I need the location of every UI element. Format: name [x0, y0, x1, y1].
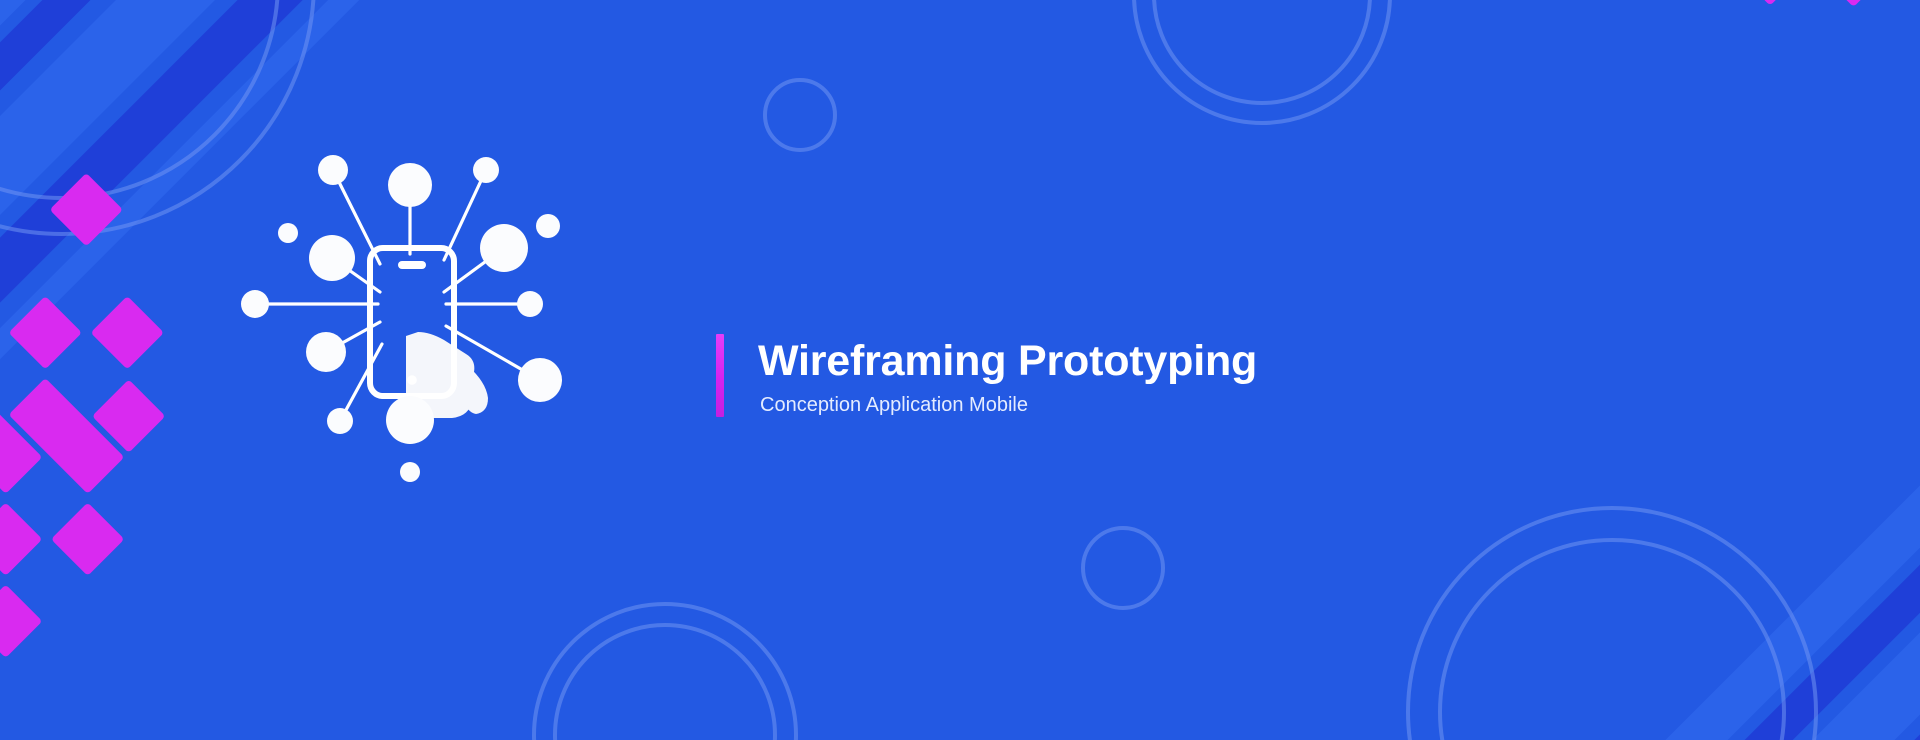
- page-title: Wireframing Prototyping: [758, 336, 1257, 386]
- node-bottom-center: [386, 396, 434, 444]
- heading-group: Wireframing Prototyping Conception Appli…: [758, 334, 1257, 417]
- node-left-upper-tiny: [278, 223, 298, 243]
- mobile-app-network-illustration: [230, 140, 650, 600]
- earpiece-speaker-slot: [398, 261, 426, 269]
- ring-bottom-center-inner: [555, 625, 775, 740]
- node-bottom-tiny: [400, 462, 420, 482]
- network-nodes: [241, 155, 562, 482]
- node-left-lower-big: [306, 332, 346, 372]
- node-bottom-left-tiny: [327, 408, 353, 434]
- node-right-upper-big: [480, 224, 528, 272]
- top-right-diamond-cluster: [1405, 0, 1920, 130]
- node-right-upper-tiny: [536, 214, 560, 238]
- ring-bottom-right-outer: [1408, 508, 1816, 740]
- node-left-mid: [241, 290, 269, 318]
- ring-bottom-right-inner: [1440, 540, 1784, 740]
- stripe-group-bottom-right: [1269, 217, 1920, 740]
- node-top-right-small: [473, 157, 499, 183]
- banner-text-block: Wireframing Prototyping Conception Appli…: [716, 334, 1257, 417]
- network-connector-lines: [255, 170, 540, 421]
- page-subtitle: Conception Application Mobile: [760, 393, 1257, 417]
- node-top-center: [388, 163, 432, 207]
- node-left-upper-big: [309, 235, 355, 281]
- node-right-lower-big: [518, 358, 562, 402]
- magenta-accent-bar: [716, 334, 724, 417]
- node-top-left-small: [318, 155, 348, 185]
- home-button-dot: [407, 375, 417, 385]
- ring-upper-middle: [765, 80, 835, 150]
- hero-banner: Wireframing Prototyping Conception Appli…: [0, 0, 1920, 740]
- ring-bottom-center-outer: [534, 604, 796, 740]
- ring-top-center-right-outer: [1134, 0, 1390, 123]
- node-right-mid: [517, 291, 543, 317]
- ring-lower-middle: [1083, 528, 1163, 608]
- ring-top-center-right-inner: [1154, 0, 1370, 103]
